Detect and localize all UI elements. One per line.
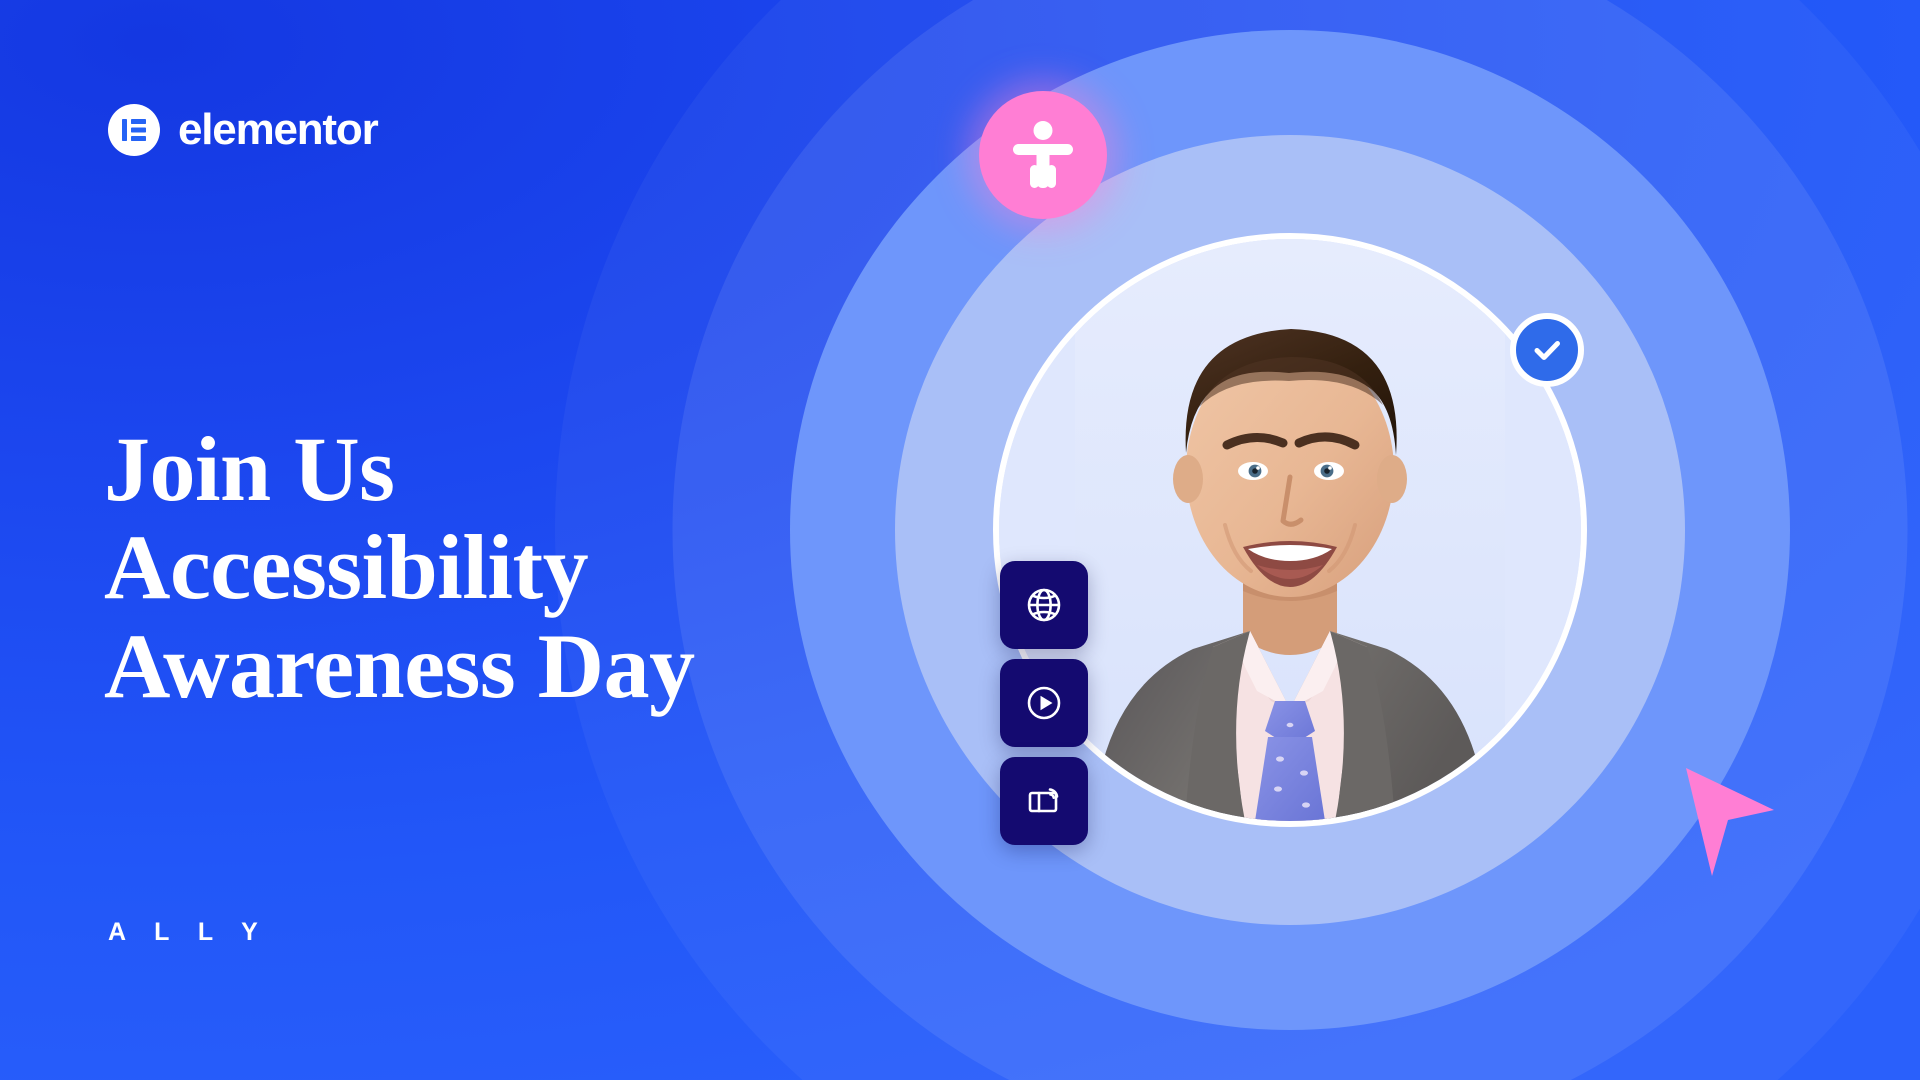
cursor-arrow	[1682, 762, 1778, 882]
elementor-wordmark: elementor	[178, 108, 378, 152]
cursor-arrow-icon	[1682, 762, 1778, 882]
elementor-logo[interactable]: elementor	[108, 104, 378, 156]
page-title: Join Us Accessibility Awareness Day	[104, 420, 695, 715]
globe-icon	[1024, 585, 1064, 625]
hero-banner: elementor Join Us Accessibility Awarenes…	[0, 0, 1920, 1080]
check-icon	[1528, 331, 1566, 369]
responsive-icon	[1024, 781, 1064, 821]
universal-access-icon	[1010, 120, 1076, 190]
elementor-e-icon	[108, 104, 160, 156]
verified-badge	[1510, 313, 1584, 387]
accessibility-badge[interactable]	[979, 91, 1107, 219]
play-button[interactable]	[1000, 659, 1088, 747]
globe-button[interactable]	[1000, 561, 1088, 649]
portrait-illustration	[1075, 239, 1505, 821]
feature-icon-stack	[1000, 561, 1088, 845]
responsive-button[interactable]	[1000, 757, 1088, 845]
play-circle-icon	[1024, 683, 1064, 723]
ally-wordmark: A L L Y	[108, 918, 269, 947]
